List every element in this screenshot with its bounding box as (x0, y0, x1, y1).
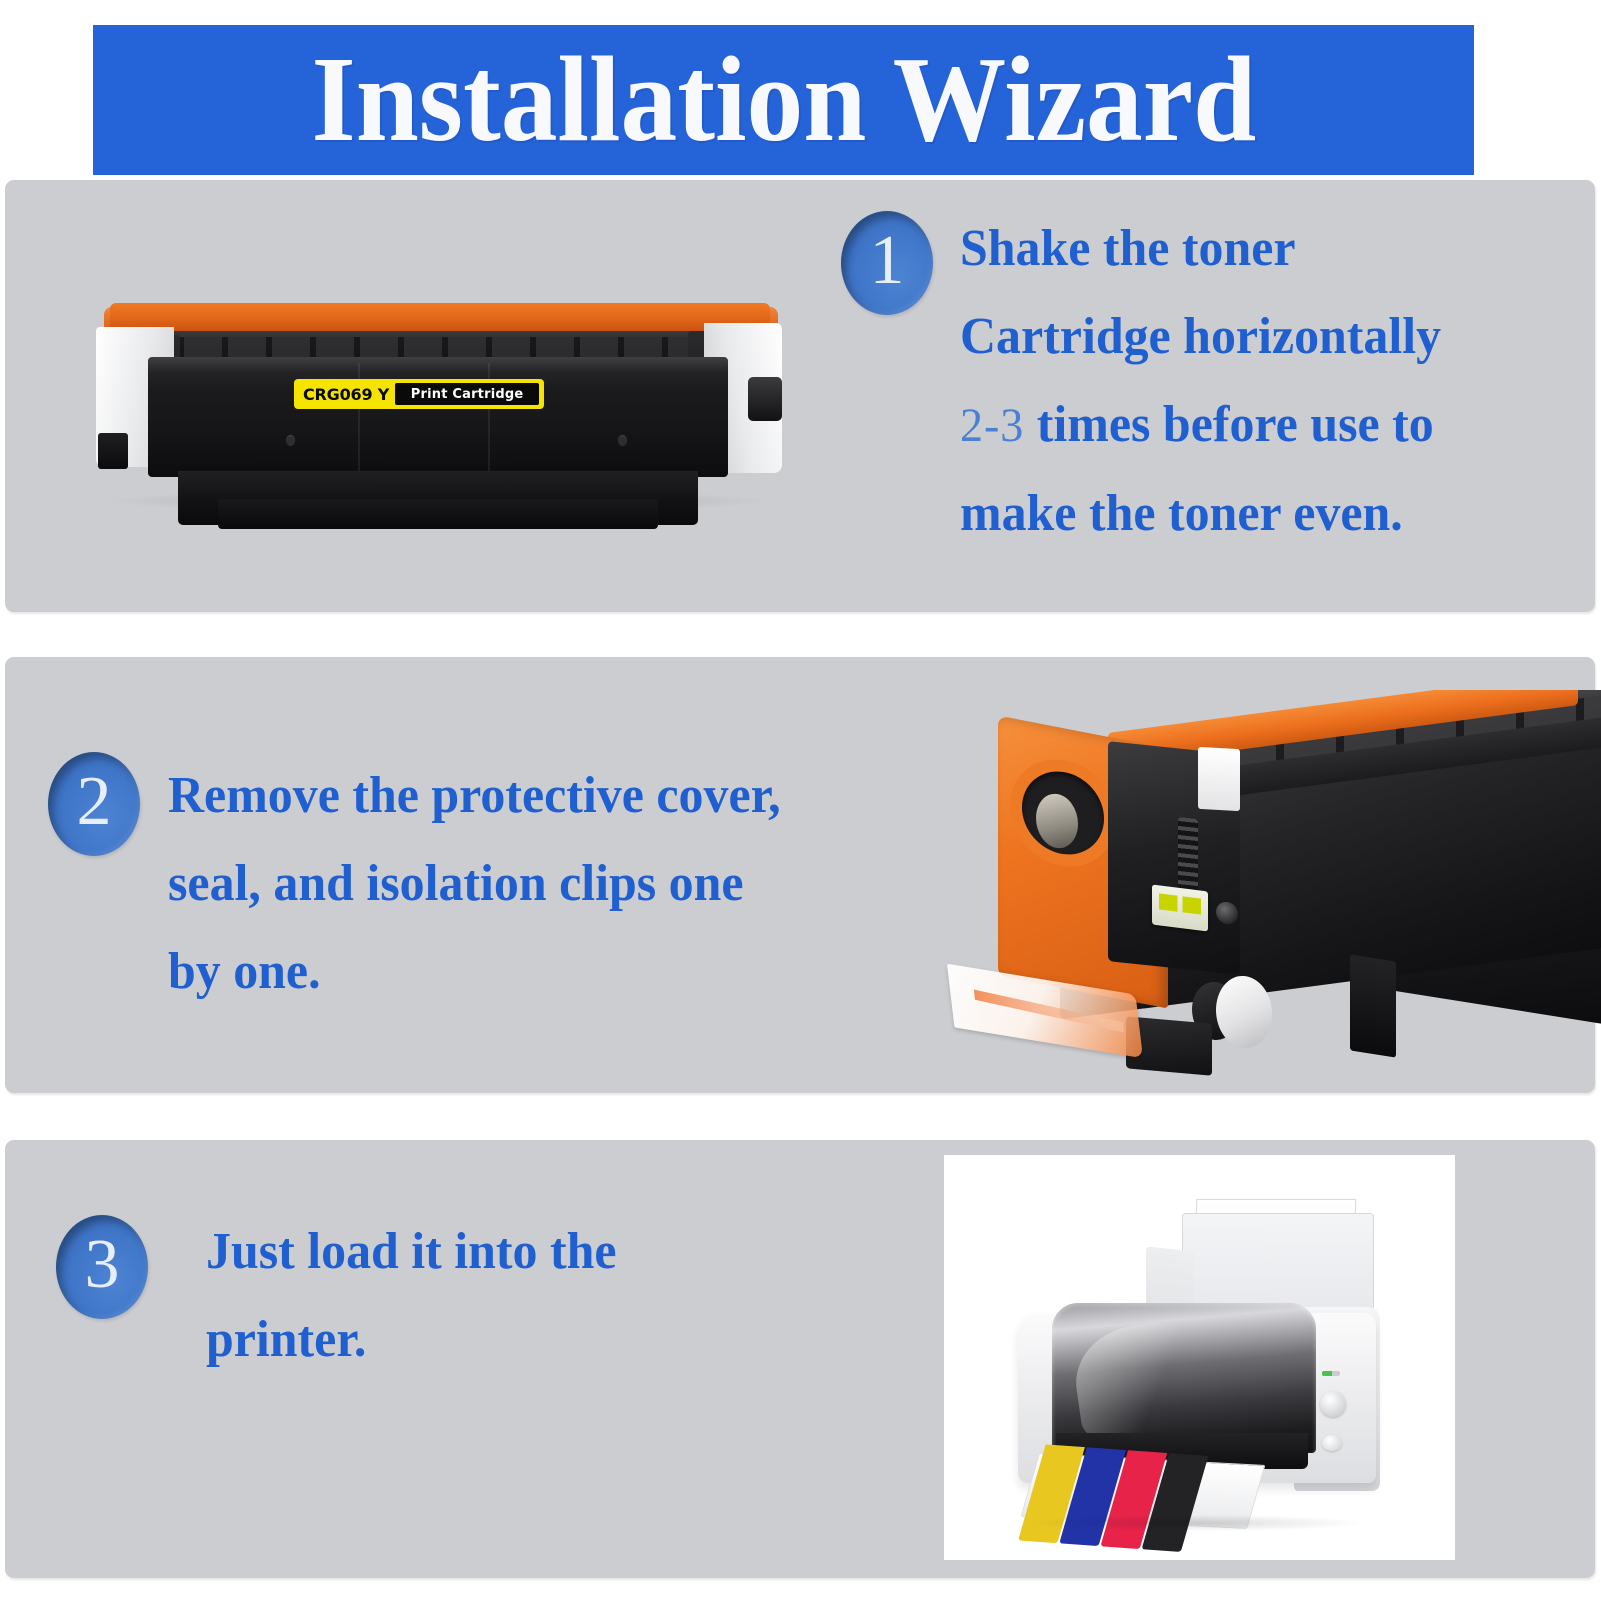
step-badge-2-number: 2 (77, 767, 112, 837)
step-1-shake-count: 2-3 (960, 399, 1024, 452)
step-2-line-3: by one. (168, 928, 898, 1016)
cartridge-left-tab (98, 433, 128, 469)
cartridge-base-lower (218, 499, 658, 529)
cartridge-orange-protective-strip (110, 303, 770, 331)
cartridge-right-roller (748, 377, 782, 421)
step-1-text: Shake the toner Cartridge horizontally 2… (960, 205, 1574, 558)
step-2-line-1: Remove the protective cover, (168, 752, 898, 840)
step-badge-1: 1 (841, 211, 933, 315)
step-1-line-3-rest: times before use to (1037, 396, 1434, 453)
step-3-line-2: printer. (206, 1296, 878, 1384)
toner-cartridge-image: CRG069 Y Print Cartridge (88, 285, 788, 530)
step-1-line-3: 2-3 times before use to (960, 381, 1574, 470)
step-2-text: Remove the protective cover, seal, and i… (168, 752, 898, 1016)
step-badge-1-number: 1 (870, 226, 905, 296)
header-banner: Installation Wizard (93, 25, 1474, 175)
cartridge-screw-dot-left (286, 435, 295, 446)
cartridge-label: CRG069 Y Print Cartridge (294, 379, 544, 409)
printer-shadow (1024, 1515, 1364, 1531)
cartridge-product-name: Print Cartridge (411, 387, 524, 402)
step-1-line-4: make the toner even. (960, 470, 1574, 558)
cartridge-screw-dot-right (618, 435, 627, 446)
closeup-body-notch (1350, 954, 1396, 1057)
cartridge-closeup-image (930, 690, 1601, 1080)
step-3-text: Just load it into the printer. (206, 1208, 878, 1384)
printer-power-button[interactable] (1320, 1391, 1346, 1417)
printer-image-card (944, 1155, 1455, 1560)
step-1-line-1: Shake the toner (960, 205, 1574, 293)
cartridge-name-plate: Print Cartridge (395, 383, 539, 405)
printer-secondary-button[interactable] (1322, 1435, 1342, 1451)
closeup-toner-chip (1152, 885, 1208, 932)
cartridge-body (148, 357, 728, 477)
closeup-white-isolation-clip (1198, 747, 1240, 811)
step-badge-3-number: 3 (85, 1230, 120, 1300)
step-3-line-1: Just load it into the (206, 1208, 878, 1296)
step-2-line-2: seal, and isolation clips one (168, 840, 898, 928)
step-badge-2: 2 (48, 752, 140, 856)
step-1-line-2: Cartridge horizontally (960, 293, 1574, 381)
page-title: Installation Wizard (311, 39, 1256, 161)
inkjet-printer-illustration (994, 1185, 1414, 1545)
printer-color-strips (1018, 1444, 1232, 1553)
cartridge-model-code: CRG069 Y (299, 385, 395, 404)
step-badge-3: 3 (56, 1215, 148, 1319)
printer-status-led (1322, 1371, 1340, 1376)
